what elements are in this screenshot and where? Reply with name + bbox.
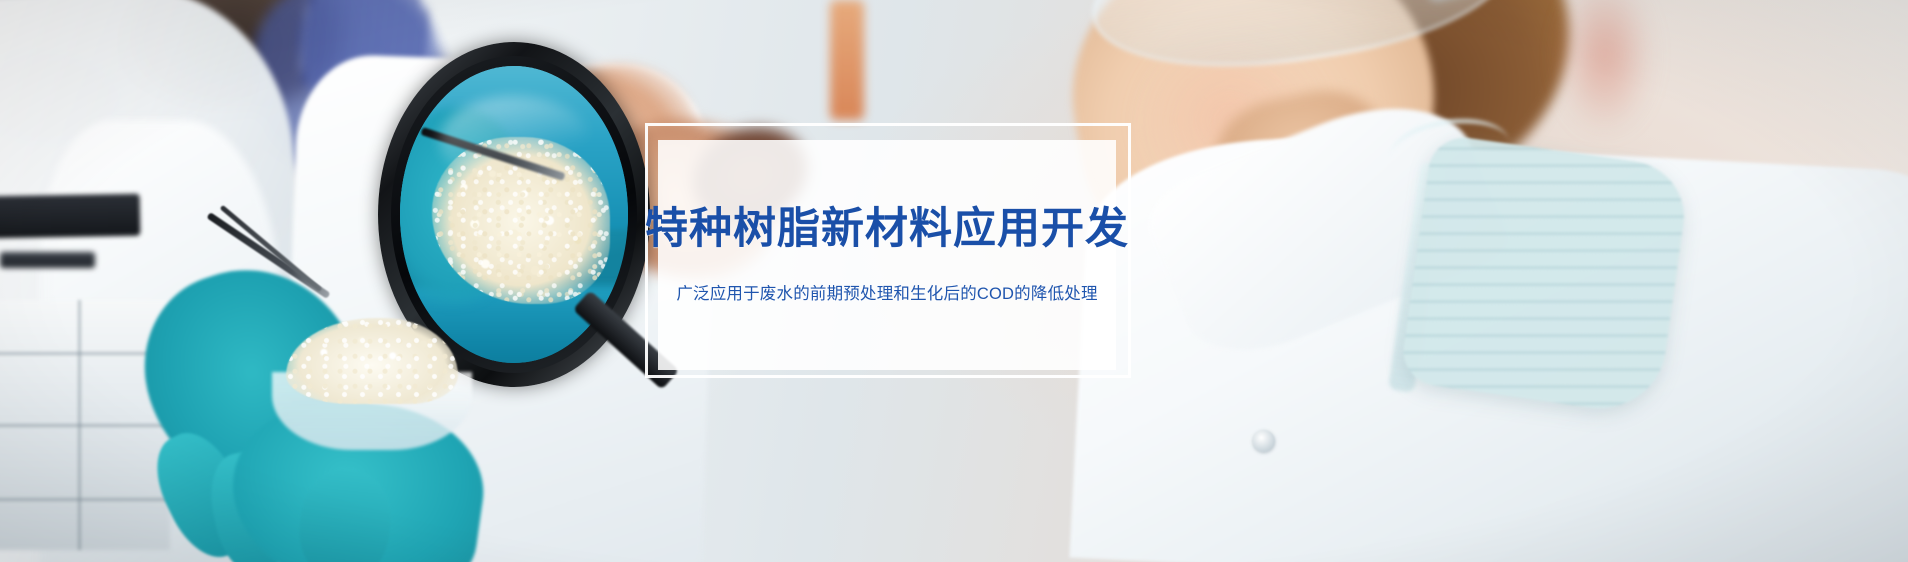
promo-text-card: 特种树脂新材料应用开发 广泛应用于废水的前期预处理和生化后的COD的降低处理 (658, 140, 1116, 370)
banner-subtitle: 广泛应用于废水的前期预处理和生化后的COD的降低处理 (676, 280, 1097, 304)
banner-headline: 特种树脂新材料应用开发 (645, 206, 1129, 253)
hero-banner: 特种树脂新材料应用开发 广泛应用于废水的前期预处理和生化后的COD的降低处理 (0, 0, 1908, 562)
